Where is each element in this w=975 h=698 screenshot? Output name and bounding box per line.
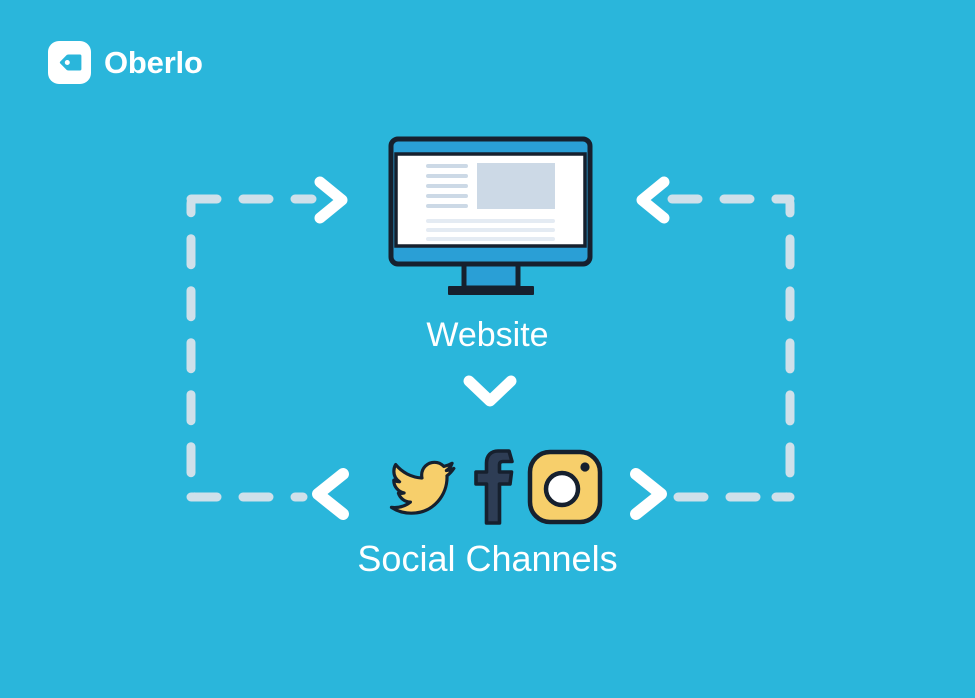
facebook-f-icon[interactable] [469, 446, 519, 528]
content-text-line [426, 204, 468, 208]
desktop-monitor-icon [388, 136, 593, 301]
arrow-bottom-left [303, 463, 357, 525]
website-label: Website [0, 318, 975, 352]
content-text-line [426, 164, 468, 168]
content-text-line [426, 194, 468, 198]
illustration-canvas: Oberlo [0, 0, 975, 698]
content-text-line [426, 184, 468, 188]
twitter-bird-icon[interactable] [385, 448, 463, 526]
content-text-line [426, 237, 555, 241]
instagram-lens [546, 473, 578, 505]
instagram-camera-icon[interactable] [525, 447, 605, 527]
content-image-block [477, 163, 555, 209]
social-icons-row [385, 446, 605, 528]
arrow-bottom-right [622, 463, 676, 525]
monitor-stand [464, 263, 518, 288]
arrow-top-right [626, 172, 676, 228]
content-text-line [426, 219, 555, 223]
arrow-center-down [459, 370, 521, 414]
content-text-line [426, 228, 555, 232]
content-text-line [426, 174, 468, 178]
social-channels-label: Social Channels [0, 541, 975, 577]
arrow-top-left [308, 172, 358, 228]
instagram-flash-dot [580, 462, 589, 471]
